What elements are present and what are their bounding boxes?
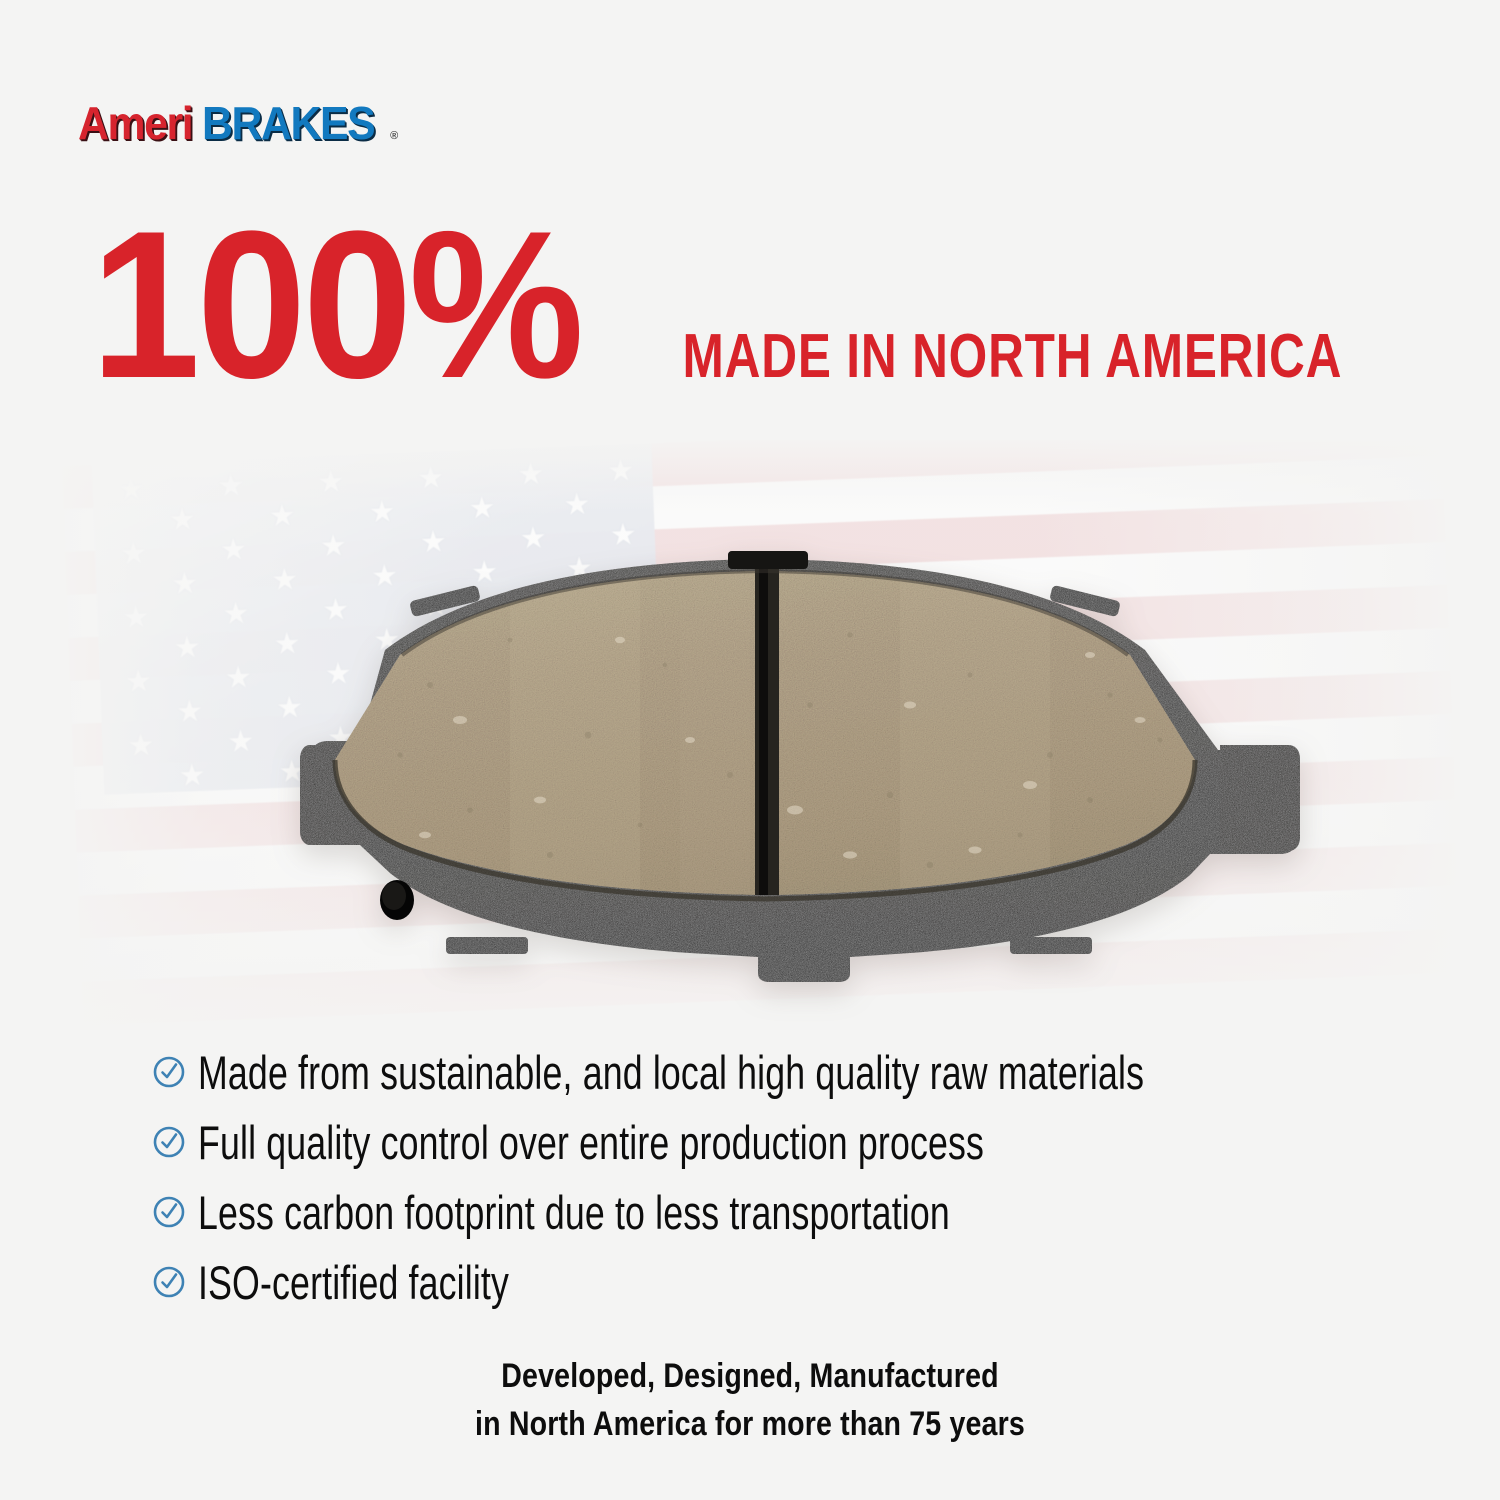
flag-star: ★	[127, 731, 155, 762]
check-circle-icon	[152, 1055, 186, 1089]
feature-bullet-list: Made from sustainable, and local high qu…	[152, 1038, 1402, 1318]
check-circle-icon	[152, 1125, 186, 1159]
plate-notch-right	[1010, 937, 1092, 954]
check-circle-icon	[152, 1195, 186, 1229]
flag-star: ★	[171, 569, 199, 600]
footer-line-2: in North America for more than 75 years	[120, 1400, 1380, 1448]
brand-logo: Ameri BRAKES ®	[78, 100, 398, 146]
headline-block: 100% MADE IN NORTH AMERICA	[0, 205, 1500, 405]
check-circle-icon	[152, 1265, 186, 1299]
flag-star: ★	[120, 539, 148, 570]
flag-stripe	[62, 440, 1443, 509]
flag-stripe	[63, 456, 1444, 552]
plate-notch-left	[446, 937, 528, 954]
mounting-hole-highlight	[382, 882, 406, 910]
flag-star: ★	[176, 697, 204, 728]
logo-text-ameri: Ameri	[78, 100, 192, 146]
footer-tagline: Developed, Designed, Manufactured in Nor…	[0, 1352, 1500, 1449]
flag-star: ★	[607, 456, 635, 487]
flag-star: ★	[517, 460, 545, 491]
brake-pad-product-image	[210, 545, 1320, 995]
flag-star: ★	[117, 475, 145, 506]
bullet-label: ISO-certified facility	[198, 1259, 509, 1306]
bullet-label: Full quality control over entire product…	[198, 1119, 984, 1166]
bullet-label: Made from sustainable, and local high qu…	[198, 1049, 1144, 1096]
brake-pad-svg	[210, 545, 1320, 995]
list-item: ISO-certified facility	[152, 1248, 1402, 1316]
flag-star: ★	[168, 505, 196, 536]
footer-line-1: Developed, Designed, Manufactured	[120, 1352, 1380, 1400]
list-item: Made from sustainable, and local high qu…	[152, 1038, 1402, 1106]
flag-star: ★	[563, 490, 591, 521]
headline-percent: 100%	[91, 205, 581, 405]
logo-text-brakes: BRAKES	[202, 100, 374, 146]
flag-star: ★	[468, 493, 496, 524]
flag-star: ★	[122, 603, 150, 634]
registered-trademark-icon: ®	[390, 130, 398, 142]
promo-graphic-canvas: ★ ★ ★ ★ ★ ★ ★ ★ ★ ★ ★ ★ ★ ★ ★ ★ ★ ★ ★ ★ …	[0, 0, 1500, 1500]
flag-star: ★	[317, 467, 345, 498]
list-item: Less carbon footprint due to less transp…	[152, 1178, 1402, 1246]
list-item: Full quality control over entire product…	[152, 1108, 1402, 1176]
flag-star: ★	[368, 497, 396, 528]
flag-star: ★	[124, 667, 152, 698]
bullet-label: Less carbon footprint due to less transp…	[198, 1189, 950, 1236]
headline-subtitle: MADE IN NORTH AMERICA	[683, 326, 1343, 388]
flag-star: ★	[268, 501, 296, 532]
flag-star: ★	[217, 471, 245, 502]
flag-star: ★	[173, 633, 201, 664]
flag-star: ★	[178, 761, 206, 792]
flag-star: ★	[417, 463, 445, 494]
